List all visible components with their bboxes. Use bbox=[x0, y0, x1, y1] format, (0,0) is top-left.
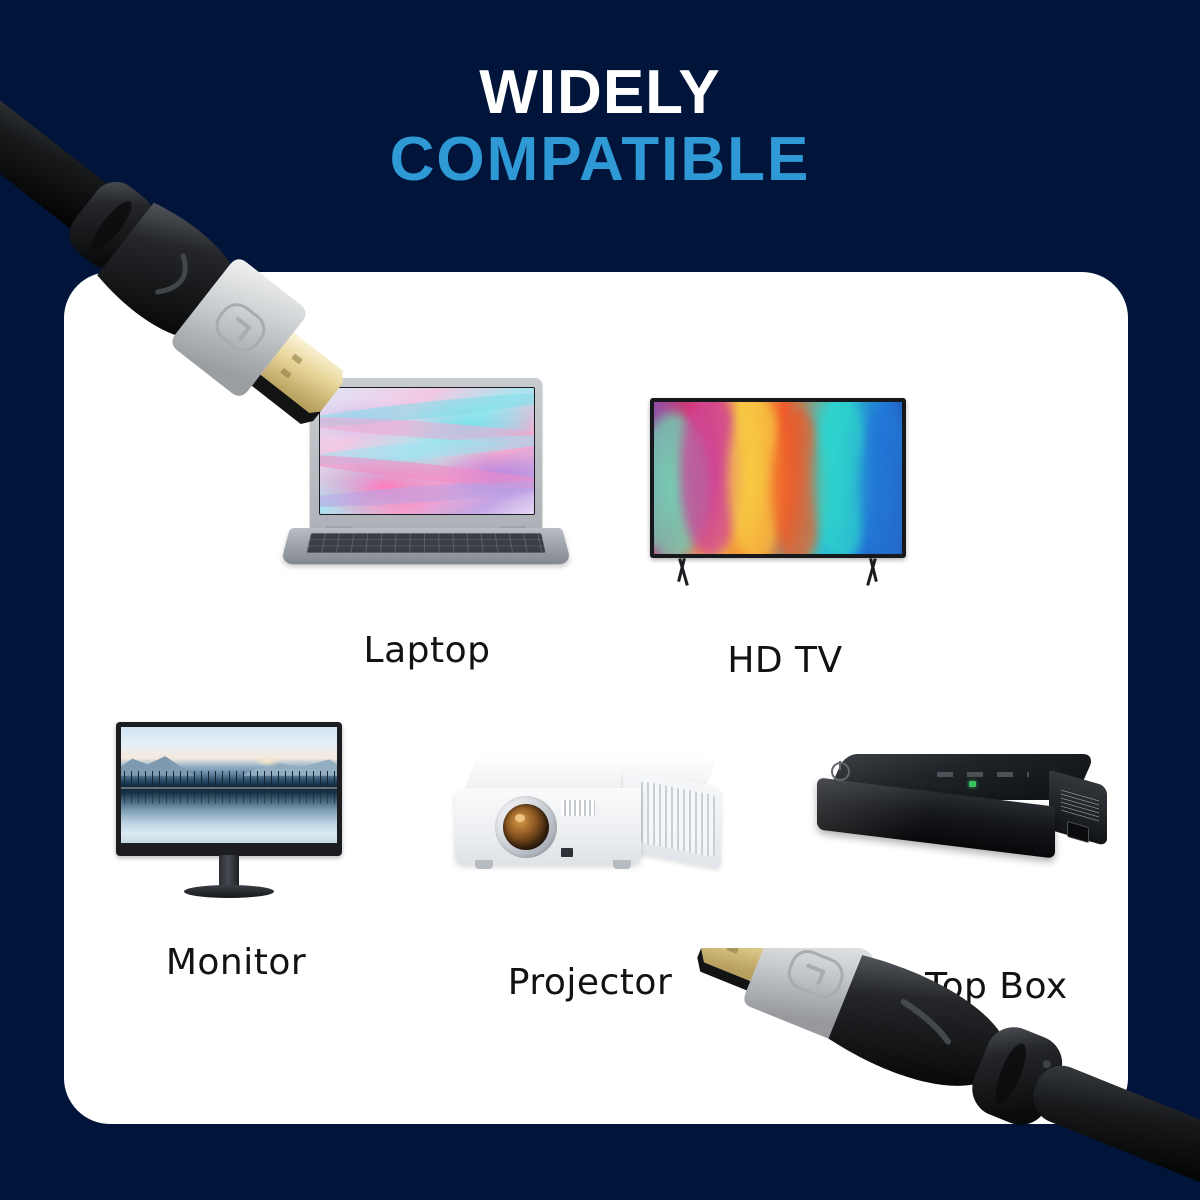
monitor-treeline-reflection bbox=[121, 790, 337, 804]
power-icon bbox=[831, 762, 850, 781]
device-label-monitor: Monitor bbox=[96, 942, 376, 983]
monitor-bezel bbox=[116, 722, 342, 856]
laptop-base bbox=[280, 528, 571, 564]
projector-port bbox=[561, 848, 573, 857]
hdmi-connector-icon bbox=[672, 948, 1200, 1200]
set-top-box-indicator-labels bbox=[937, 772, 1029, 777]
projector-foot-right bbox=[613, 860, 631, 869]
projector-foot-left bbox=[475, 860, 493, 869]
product-feature-graphic: WIDELY COMPATIBLE Laptop bbox=[0, 0, 1200, 1200]
monitor-illustration bbox=[116, 722, 356, 902]
projector-lens bbox=[503, 804, 549, 850]
projector-illustration bbox=[445, 748, 735, 898]
monitor-treeline bbox=[121, 771, 337, 785]
device-label-laptop: Laptop bbox=[277, 630, 577, 671]
hdtv-screen bbox=[654, 402, 902, 554]
laptop-keyboard bbox=[306, 533, 545, 553]
monitor-sun-glow bbox=[255, 757, 281, 767]
monitor-screen bbox=[121, 727, 337, 843]
monitor-stand-base bbox=[184, 885, 274, 898]
hdtv-bezel bbox=[650, 398, 906, 558]
set-top-box-status-led bbox=[969, 781, 976, 787]
device-item-monitor: Monitor bbox=[96, 722, 376, 983]
laptop-screen bbox=[319, 387, 535, 515]
projector-speaker-grille bbox=[561, 800, 595, 816]
device-item-hdtv: HD TV bbox=[640, 398, 930, 681]
set-top-box-illustration bbox=[811, 748, 1111, 888]
headline-line-1: WIDELY bbox=[0, 60, 1200, 127]
headline-line-2: COMPATIBLE bbox=[0, 127, 1200, 194]
hdtv-illustration bbox=[650, 398, 920, 598]
headline-block: WIDELY COMPATIBLE bbox=[0, 60, 1200, 194]
device-label-hdtv: HD TV bbox=[640, 640, 930, 681]
monitor-stand-neck bbox=[219, 855, 239, 887]
projector-lens-ring bbox=[495, 796, 557, 858]
